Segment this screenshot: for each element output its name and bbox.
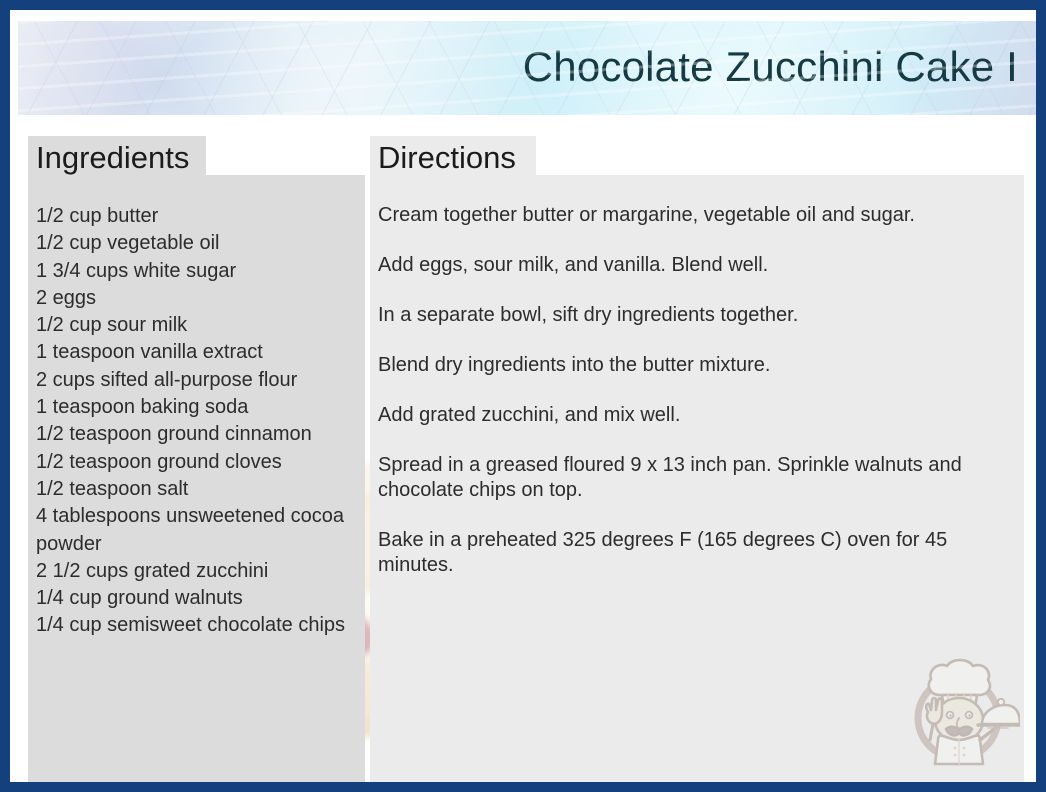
- ingredient-item: 1/2 teaspoon salt: [36, 476, 355, 503]
- header-banner: Chocolate Zucchini Cake I: [18, 21, 1036, 115]
- ingredient-item: 1/4 cup ground walnuts: [36, 585, 355, 612]
- ingredient-item: 4 tablespoons unsweetened cocoa powder: [36, 503, 355, 558]
- directions-content: Cream together butter or margarine, vege…: [370, 175, 1024, 578]
- ingredient-item: 1/2 cup vegetable oil: [36, 230, 355, 257]
- page-title: Chocolate Zucchini Cake I: [523, 43, 1018, 91]
- ingredient-item: 1 teaspoon vanilla extract: [36, 339, 355, 366]
- ingredients-content: 1/2 cup butter1/2 cup vegetable oil1 3/4…: [28, 175, 365, 640]
- ingredients-heading: Ingredients: [36, 142, 189, 173]
- direction-step: Cream together butter or margarine, vege…: [378, 203, 1014, 228]
- ingredient-item: 2 eggs: [36, 285, 355, 312]
- directions-steps: Cream together butter or margarine, vege…: [378, 203, 1014, 578]
- recipe-card: Chocolate Zucchini Cake I: [0, 0, 1046, 792]
- tab-directions[interactable]: Directions: [370, 136, 536, 178]
- direction-step: Bake in a preheated 325 degrees F (165 d…: [378, 528, 1014, 578]
- ingredient-item: 1/2 teaspoon ground cloves: [36, 449, 355, 476]
- ingredient-item: 1/2 teaspoon ground cinnamon: [36, 421, 355, 448]
- direction-step: In a separate bowl, sift dry ingredients…: [378, 303, 1014, 328]
- direction-step: Spread in a greased floured 9 x 13 inch …: [378, 453, 1014, 503]
- directions-heading: Directions: [378, 142, 516, 173]
- ingredient-item: 1 3/4 cups white sugar: [36, 258, 355, 285]
- ingredient-item: 2 1/2 cups grated zucchini: [36, 558, 355, 585]
- direction-step: Blend dry ingredients into the butter mi…: [378, 353, 1014, 378]
- ingredients-panel: 1/2 cup butter1/2 cup vegetable oil1 3/4…: [28, 175, 365, 790]
- tab-ingredients[interactable]: Ingredients: [28, 136, 206, 178]
- ingredient-item: 1 teaspoon baking soda: [36, 394, 355, 421]
- direction-step: Add grated zucchini, and mix well.: [378, 403, 1014, 428]
- ingredient-item: 1/2 cup sour milk: [36, 312, 355, 339]
- ingredient-item: 2 cups sifted all-purpose flour: [36, 367, 355, 394]
- ingredients-list: 1/2 cup butter1/2 cup vegetable oil1 3/4…: [36, 203, 355, 640]
- ingredient-item: 1/2 cup butter: [36, 203, 355, 230]
- direction-step: Add eggs, sour milk, and vanilla. Blend …: [378, 253, 1014, 278]
- ingredient-item: 1/4 cup semisweet chocolate chips: [36, 612, 355, 639]
- directions-panel: Cream together butter or margarine, vege…: [370, 175, 1024, 790]
